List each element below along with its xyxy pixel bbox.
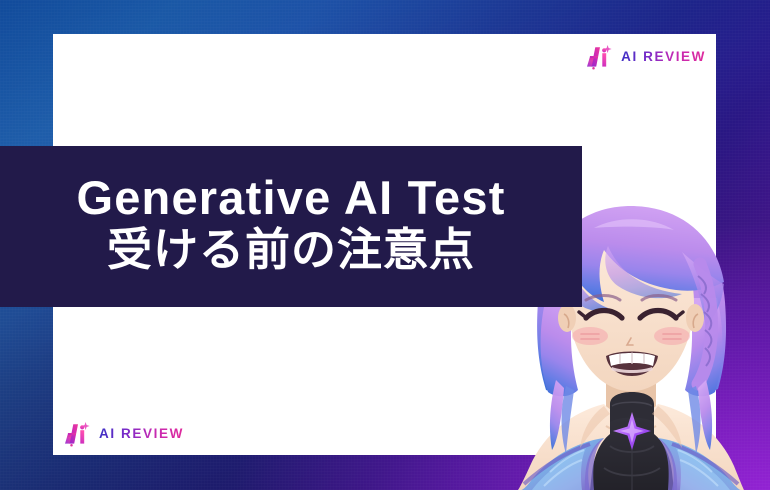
ai-sparkle-mark-icon — [584, 44, 614, 70]
footer-logo-text: AI REVIEW — [99, 427, 184, 441]
thumbnail-canvas: AI REVIEW — [0, 0, 770, 490]
ai-sparkle-mark-icon — [62, 421, 92, 447]
footer-logo: AI REVIEW — [62, 421, 184, 447]
title-band: Generative AI Test 受ける前の注意点 — [0, 146, 582, 307]
title-line-1: Generative AI Test — [22, 174, 560, 223]
title-line-2: 受ける前の注意点 — [22, 225, 560, 275]
header-logo: AI REVIEW — [584, 44, 706, 70]
header-logo-text: AI REVIEW — [621, 50, 706, 64]
